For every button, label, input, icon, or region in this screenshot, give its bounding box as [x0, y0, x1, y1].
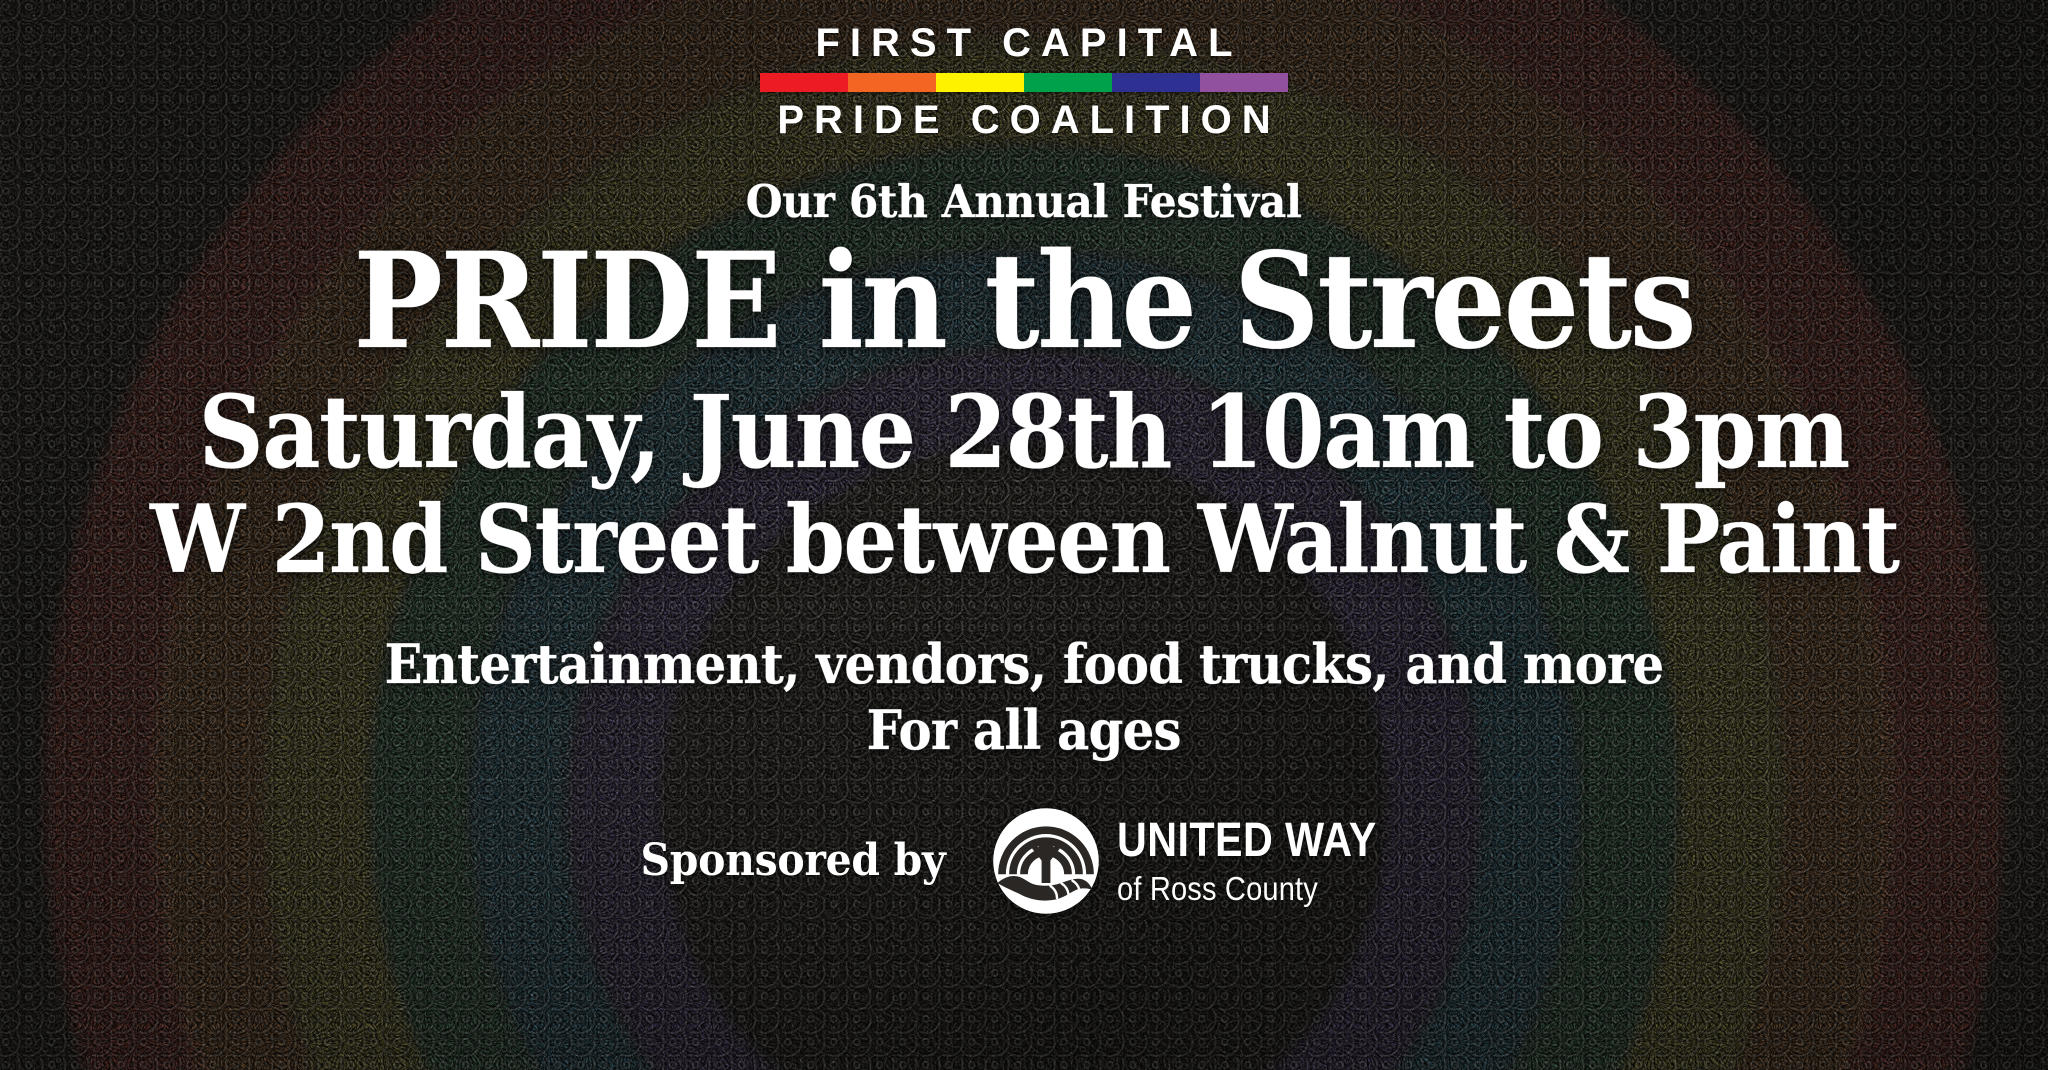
united-way-name: UNITED WAY	[1117, 817, 1377, 865]
logo-bar-segment-yellow	[936, 73, 1024, 92]
event-description-line-1: Entertainment, vendors, food trucks, and…	[385, 632, 1664, 696]
sponsored-by-label: Sponsored by	[641, 835, 946, 886]
united-way-wordmark: UNITED WAY of Ross County	[1117, 817, 1419, 905]
united-way-chapter: of Ross County	[1117, 872, 1383, 905]
logo-line-pride-coalition: PRIDE COALITION	[767, 99, 1280, 141]
logo-bar-segment-purple	[1200, 73, 1288, 92]
united-way-hand-rainbow-person-icon	[991, 806, 1101, 916]
united-way-logo: UNITED WAY of Ross County	[991, 806, 1419, 916]
pride-festival-poster: FIRST CAPITAL PRIDE COALITION Our 6th An…	[0, 0, 2048, 1070]
logo-line-first-capital: FIRST CAPITAL	[805, 22, 1242, 64]
page-title: PRIDE in the Streets	[354, 236, 1695, 368]
first-capital-pride-coalition-logo: FIRST CAPITAL PRIDE COALITION	[760, 22, 1288, 141]
event-datetime: Saturday, June 28th 10am to 3pm	[199, 378, 1849, 486]
logo-bar-segment-green	[1024, 73, 1112, 92]
event-location: W 2nd Street between Walnut & Paint	[150, 490, 1898, 592]
logo-rainbow-bar	[760, 73, 1288, 92]
logo-bar-segment-orange	[848, 73, 936, 92]
sponsor-section: Sponsored by	[629, 806, 1419, 916]
poster-content: FIRST CAPITAL PRIDE COALITION Our 6th An…	[0, 0, 2048, 1070]
event-description-line-2: For all ages	[867, 698, 1181, 762]
festival-eyebrow: Our 6th Annual Festival	[746, 175, 1302, 228]
logo-bar-segment-red	[760, 73, 848, 92]
logo-bar-segment-blue	[1112, 73, 1200, 92]
